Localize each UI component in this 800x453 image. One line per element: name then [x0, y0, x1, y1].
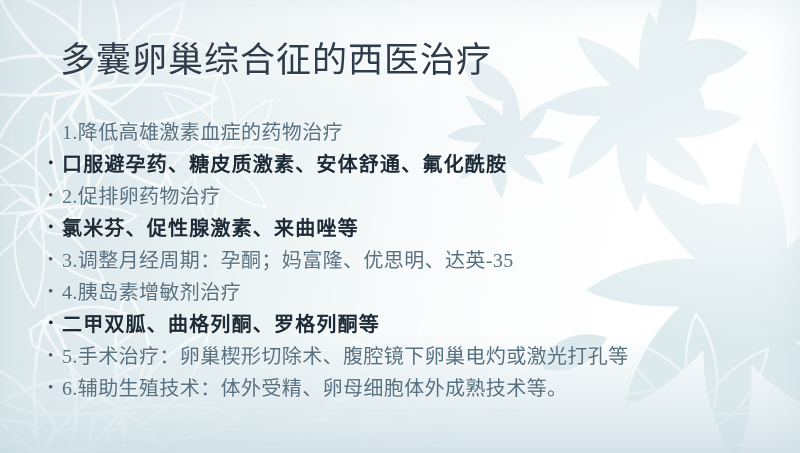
list-item: 1.降低高雄激素血症的药物治疗	[48, 118, 788, 150]
list-item-label: 2.促排卵药物治疗	[62, 182, 221, 212]
list-item: • 2.促排卵药物治疗	[48, 182, 788, 214]
list-item-label: 1.降低高雄激素血症的药物治疗	[62, 118, 343, 148]
list-item-label: 二甲双胍、曲格列酮、罗格列酮等	[62, 310, 380, 340]
list-item: • 口服避孕药、糖皮质激素、安体舒通、氟化酰胺	[48, 150, 788, 182]
list-item-label: 5.手术治疗：卵巢楔形切除术、腹腔镜下卵巢电灼或激光打孔等	[62, 342, 629, 372]
slide-canvas: 多囊卵巢综合征的西医治疗 1.降低高雄激素血症的药物治疗 • 口服避孕药、糖皮质…	[0, 0, 800, 453]
list-item: • 6.辅助生殖技术：体外受精、卵母细胞体外成熟技术等。	[48, 374, 788, 406]
bullet-icon: •	[48, 349, 62, 364]
list-item: • 氯米芬、促性腺激素、来曲唑等	[48, 214, 788, 246]
list-item-label: 3.调整月经周期：孕酮；妈富隆、优思明、达英-35	[62, 246, 514, 276]
bullet-icon: •	[48, 253, 62, 268]
list-item-label: 6.辅助生殖技术：体外受精、卵母细胞体外成熟技术等。	[62, 374, 567, 404]
list-item-label: 氯米芬、促性腺激素、来曲唑等	[62, 214, 359, 244]
list-item-label: 口服避孕药、糖皮质激素、安体舒通、氟化酰胺	[62, 150, 507, 180]
bullet-icon: •	[48, 381, 62, 396]
list-item: • 4.胰岛素增敏剂治疗	[48, 278, 788, 310]
list-item: • 5.手术治疗：卵巢楔形切除术、腹腔镜下卵巢电灼或激光打孔等	[48, 342, 788, 374]
list-item: • 3.调整月经周期：孕酮；妈富隆、优思明、达英-35	[48, 246, 788, 278]
bullet-icon: •	[48, 316, 62, 332]
bullet-icon: •	[48, 156, 62, 172]
slide-title: 多囊卵巢综合征的西医治疗	[60, 38, 492, 84]
bullet-icon: •	[48, 220, 62, 236]
slide-body-list: 1.降低高雄激素血症的药物治疗 • 口服避孕药、糖皮质激素、安体舒通、氟化酰胺 …	[48, 118, 788, 406]
list-item-label: 4.胰岛素增敏剂治疗	[62, 278, 241, 308]
bullet-icon: •	[48, 189, 62, 204]
list-item: • 二甲双胍、曲格列酮、罗格列酮等	[48, 310, 788, 342]
bullet-icon: •	[48, 285, 62, 300]
